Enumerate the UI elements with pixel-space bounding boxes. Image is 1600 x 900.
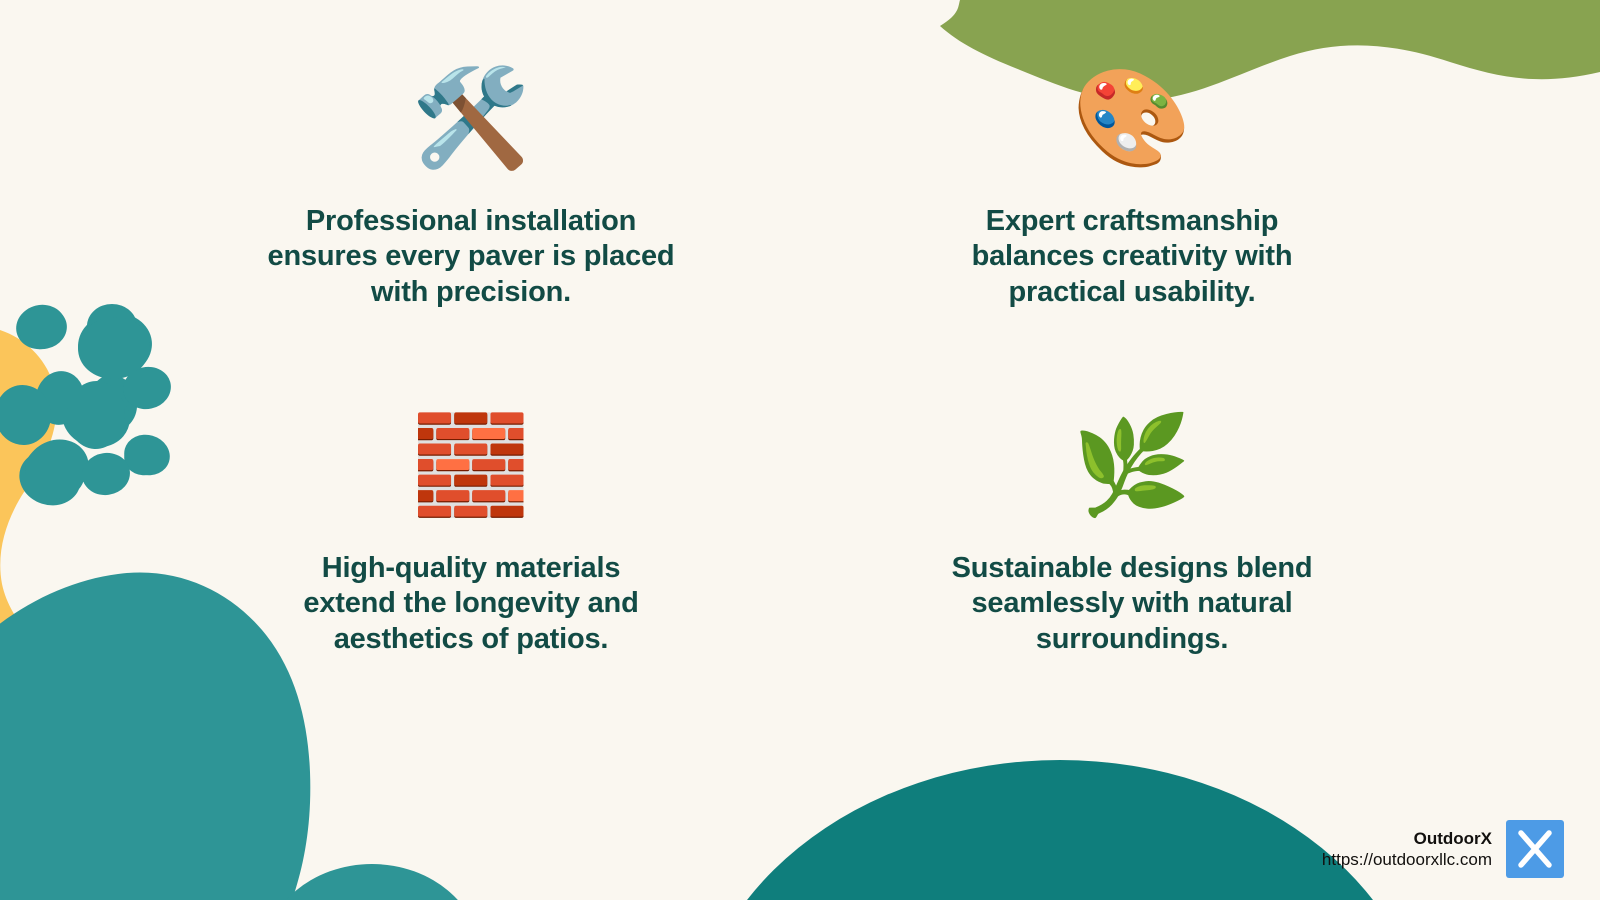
feature-text-expert-craftsmanship: Expert craftsmanship balances creativity… (972, 204, 1293, 310)
herb-leaf-icon: 🌿 (1072, 407, 1192, 525)
artist-palette-icon: 🎨 (1072, 60, 1192, 178)
feature-item-high-quality-materials: 🧱 High-quality materials extend the long… (142, 385, 800, 710)
feature-grid: 🛠️ Professional installation ensures eve… (0, 0, 1600, 900)
brick-icon: 🧱 (411, 407, 531, 525)
feature-item-expert-craftsmanship: 🎨 Expert craftsmanship balances creativi… (814, 60, 1450, 385)
feature-item-professional-installation: 🛠️ Professional installation ensures eve… (142, 60, 800, 385)
feature-text-sustainable-designs: Sustainable designs blend seamlessly wit… (952, 551, 1313, 657)
brand-logo-badge[interactable] (1506, 820, 1564, 878)
feature-item-sustainable-designs: 🌿 Sustainable designs blend seamlessly w… (814, 385, 1450, 710)
feature-text-high-quality-materials: High-quality materials extend the longev… (303, 551, 638, 657)
hammer-and-wrench-icon: 🛠️ (411, 60, 531, 178)
brand-text-block: OutdoorX https://outdoorxllc.com (1322, 828, 1492, 871)
brand-url[interactable]: https://outdoorxllc.com (1322, 849, 1492, 870)
feature-text-professional-installation: Professional installation ensures every … (268, 204, 675, 310)
logo-x-icon (1513, 827, 1557, 871)
brand-name: OutdoorX (1414, 828, 1492, 849)
brand-footer: OutdoorX https://outdoorxllc.com (1322, 820, 1564, 878)
